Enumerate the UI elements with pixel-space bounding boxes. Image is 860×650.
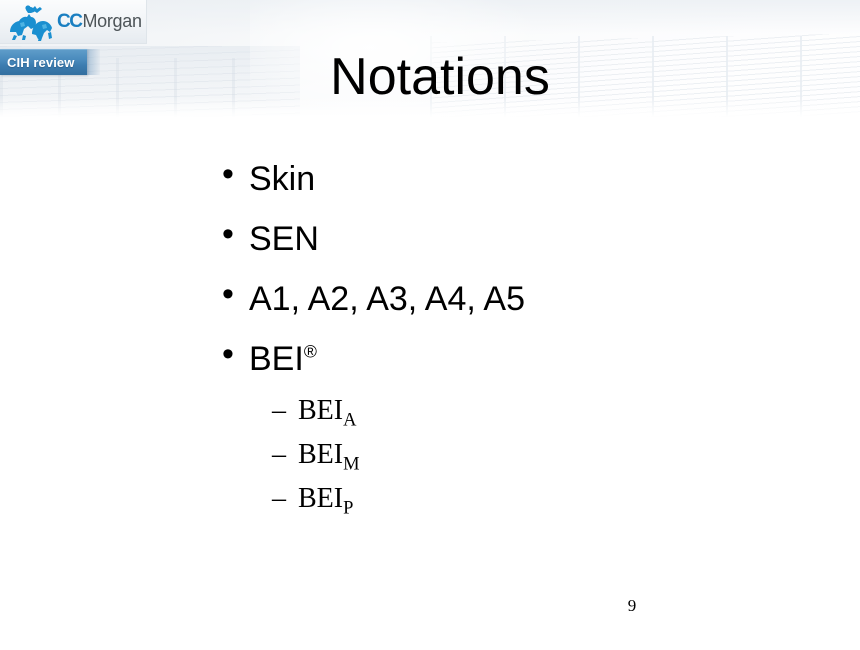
list-item-label: SEN	[249, 213, 602, 265]
content-bullet-list: • Skin • SEN • A1, A2, A3, A4, A5 • BEI®…	[222, 153, 602, 525]
brand-wordmark-prefix: CC	[57, 11, 81, 33]
list-item: – BEIM	[272, 437, 602, 473]
badge-shadow-tail	[87, 49, 100, 75]
brand-logo: CC Morgan	[0, 0, 147, 44]
content-sub-bullet-list: – BEIA – BEIM – BEIP	[272, 393, 602, 517]
bullet-marker-icon: •	[222, 273, 249, 315]
page-title: Notations	[120, 48, 760, 106]
list-item-text: BEI	[298, 395, 343, 426]
registered-trademark-icon: ®	[304, 342, 317, 362]
list-item: • Skin	[222, 153, 602, 205]
list-item: – BEIP	[272, 481, 602, 517]
list-item-subscript: M	[343, 454, 359, 474]
dash-marker-icon: –	[272, 439, 298, 471]
list-item-label: A1, A2, A3, A4, A5	[249, 273, 529, 325]
list-item-subscript: A	[343, 410, 356, 430]
brand-wordmark: CC Morgan	[57, 11, 142, 33]
list-item-subscript: P	[343, 498, 353, 518]
list-item-label: BEIP	[298, 481, 353, 517]
bullet-marker-icon: •	[222, 153, 249, 195]
dash-marker-icon: –	[272, 395, 298, 427]
list-item-text: BEI	[249, 340, 304, 378]
list-item: • BEI®	[222, 333, 602, 385]
cih-review-badge-label: CIH review	[7, 55, 74, 70]
brand-wordmark-name: Morgan	[82, 11, 141, 32]
presentation-slide: CC Morgan CIH review Notations • Skin • …	[0, 0, 860, 650]
bullet-marker-icon: •	[222, 213, 249, 255]
equestrian-logo-icon	[4, 2, 56, 42]
list-item: – BEIA	[272, 393, 602, 429]
bullet-marker-icon: •	[222, 333, 249, 375]
list-item: • SEN	[222, 213, 602, 265]
list-item-label: BEIM	[298, 437, 360, 473]
list-item-text: BEI	[298, 439, 343, 470]
list-item-label: BEI®	[249, 333, 602, 385]
list-item-text: BEI	[298, 483, 343, 514]
dash-marker-icon: –	[272, 483, 298, 515]
list-item: • A1, A2, A3, A4, A5	[222, 273, 602, 325]
list-item-label: Skin	[249, 153, 602, 205]
cih-review-badge: CIH review	[0, 49, 87, 75]
list-item-label: BEIA	[298, 393, 356, 429]
page-number: 9	[612, 596, 652, 616]
